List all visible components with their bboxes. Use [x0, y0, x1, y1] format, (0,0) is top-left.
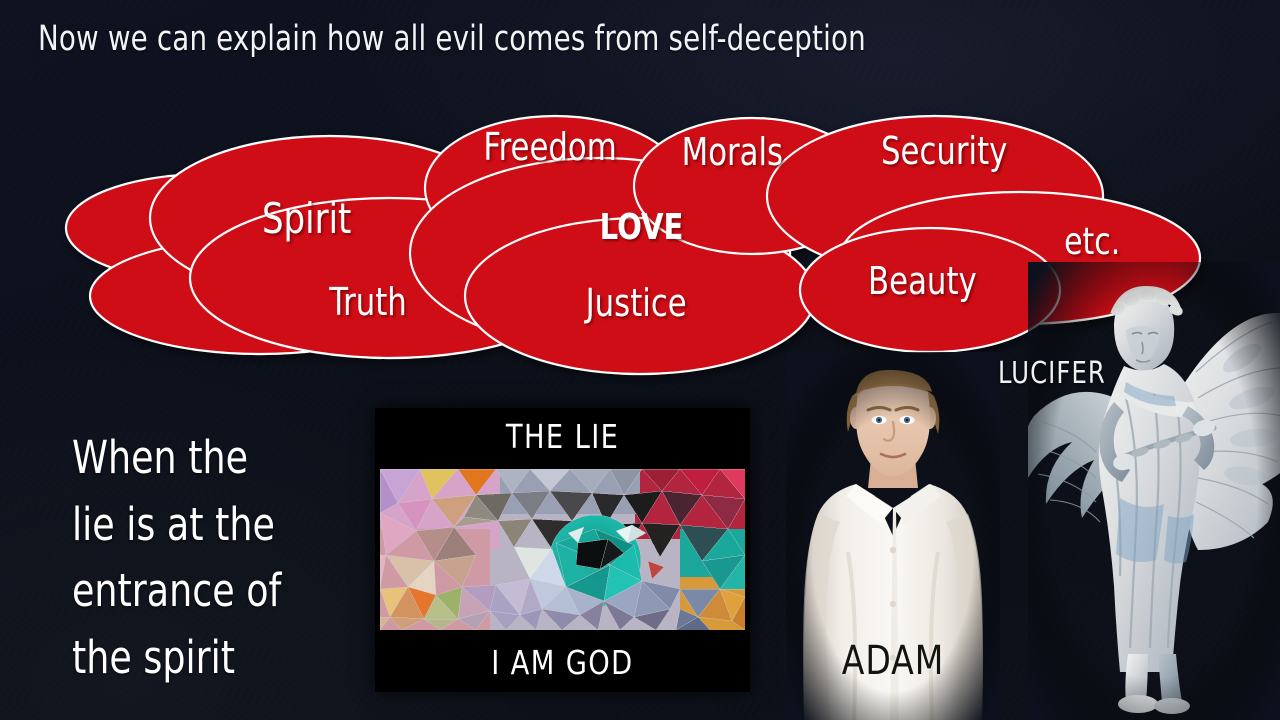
cloud-word-spirit: Spirit	[262, 194, 351, 243]
cloud-word-morals: Morals	[682, 130, 783, 174]
the-lie-panel: THE LIE	[375, 408, 750, 692]
left-caption-line-1: When the	[72, 425, 342, 492]
cloud-word-beauty: Beauty	[868, 259, 977, 303]
lucifer-statue-graphic	[1028, 262, 1280, 720]
adam-photo: ADAM	[786, 352, 1000, 720]
the-lie-bottom-bar: I AM GOD	[375, 632, 750, 692]
the-lie-bottom-label: I AM GOD	[491, 643, 633, 682]
left-caption-line-2: lie is at the	[72, 492, 342, 559]
cloud-word-freedom: Freedom	[483, 125, 616, 169]
cloud-word-justice: Justice	[586, 281, 687, 325]
lucifer-label: LUCIFER	[998, 356, 1106, 391]
cloud-word-truth: Truth	[329, 280, 406, 324]
low-poly-eye-image	[380, 469, 745, 630]
lucifer-photo: LUCIFER	[1028, 262, 1280, 720]
cloud-word-etc: etc.	[1064, 220, 1120, 263]
eye-mosaic-graphic	[380, 469, 745, 630]
the-lie-top-bar: THE LIE	[375, 408, 750, 465]
left-caption-line-3: entrance of	[72, 558, 342, 625]
the-lie-top-label: THE LIE	[506, 417, 619, 456]
left-caption-line-4: the spirit	[72, 625, 342, 692]
adam-label: ADAM	[795, 638, 992, 684]
left-caption: When the lie is at the entrance of the s…	[72, 425, 342, 691]
page-title: Now we can explain how all evil comes fr…	[38, 22, 866, 57]
slide-canvas: Now we can explain how all evil comes fr…	[0, 0, 1280, 720]
cloud-word-security: Security	[881, 129, 1007, 173]
cloud-word-love: LOVE	[600, 207, 684, 248]
